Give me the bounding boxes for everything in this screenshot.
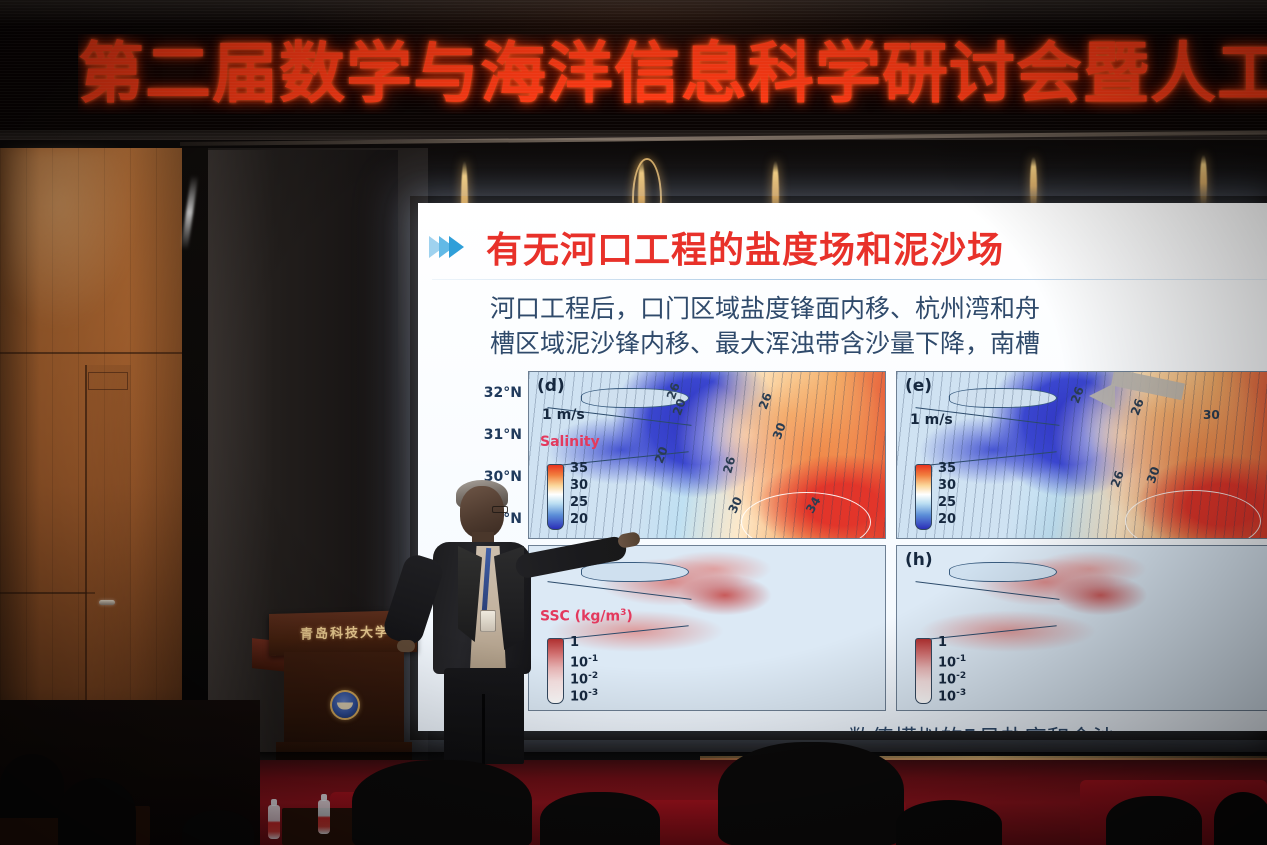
audience-head-5: [540, 792, 660, 845]
presenter-resting-hand: [397, 640, 415, 652]
wall-light-reflection: [6, 150, 136, 330]
panel-h-cbtick-1e-2: 10-2: [938, 668, 966, 685]
door-panel-detail: [88, 372, 128, 390]
panel-h-tag: (h): [905, 550, 933, 570]
panel-e-cbtick-25: 25: [938, 494, 956, 511]
panel-e-cbtick-35: 35: [938, 460, 956, 477]
y-tick-31n-top: 31°N: [484, 427, 528, 443]
panel-h-land-hangzhou-bay: [949, 562, 1057, 582]
led-banner: 第二届数学与海洋信息科学研讨会暨人工智能: [0, 0, 1267, 140]
led-banner-text: 第二届数学与海洋信息科学研讨会暨人工智能: [78, 34, 1267, 114]
panel-e-contour-30a: 30: [1203, 408, 1220, 422]
panel-h-colorbar-gradient: [915, 638, 932, 704]
audience-head-1: [0, 754, 64, 818]
figure-caption: 数值模拟的5月盐度和含沙: [848, 719, 1116, 731]
presenter-pointing-arm: [514, 535, 629, 580]
side-door[interactable]: [85, 365, 131, 715]
led-banner-glare: [0, 0, 1267, 26]
panel-e-tag: (e): [905, 376, 932, 396]
university-crest-icon: [330, 690, 360, 720]
chevron-right-icon: [434, 236, 464, 258]
panel-e-cbtick-20: 20: [938, 511, 956, 528]
panel-h-cbtick-1e-1: 10-1: [938, 651, 966, 668]
title-divider: [432, 279, 1267, 280]
wall-seam-lower: [0, 592, 95, 594]
water-bottle-2[interactable]: [318, 800, 330, 834]
audience-head-4: [352, 760, 532, 845]
audience-head-7: [896, 800, 1002, 845]
y-tick-32n-top: 32°N: [484, 385, 528, 401]
panel-e-colorbar-gradient: [915, 464, 932, 530]
lecture-hall-photo: 第二届数学与海洋信息科学研讨会暨人工智能 有无河口工程的盐度场和泥沙场: [0, 0, 1267, 845]
panel-e-annotation-arrow: [1089, 383, 1115, 409]
presenter-leg-gap: [482, 694, 485, 764]
door-handle[interactable]: [99, 600, 115, 605]
panel-e-colorbar-ticks: 35 30 25 20: [938, 460, 956, 528]
panel-h-colorbar: 1 10-1 10-2 10-3: [915, 638, 932, 704]
slide-title: 有无河口工程的盐度场和泥沙场: [486, 221, 1004, 273]
panel-h: (h) 1 10-1 10-2 10-3 121°E 122°E 123°E 1…: [896, 545, 1267, 711]
panel-e-colorbar: 35 30 25 20: [915, 464, 932, 530]
slide-title-row: 有无河口工程的盐度场和泥沙场: [418, 219, 1267, 275]
slide-body-line-2: 槽区域泥沙锋内移、最大浑浊带含沙量下降，南槽: [490, 326, 1267, 361]
wall-seam-upper: [0, 352, 182, 354]
panel-e: 26 26 30 30 26 (e) 1 m/s 35 30 25 20: [896, 371, 1267, 539]
slide-body-text: 河口工程后，口门区域盐度锋面内移、杭州湾和舟 槽区域泥沙锋内移、最大浑浊带含沙量…: [490, 291, 1267, 361]
water-bottle-1[interactable]: [268, 805, 280, 839]
panel-e-cbtick-30: 30: [938, 477, 956, 494]
audience-head-2: [58, 778, 136, 845]
panel-h-cbtick-1: 1: [938, 634, 966, 651]
audience-head-8: [1106, 796, 1202, 845]
presenter: [400, 480, 615, 765]
panel-d-variable-label: Salinity: [540, 434, 600, 450]
presenter-glasses: [492, 506, 508, 513]
slide-body-line-1: 河口工程后，口门区域盐度锋面内移、杭州湾和舟: [490, 291, 1267, 326]
panel-h-cbtick-1e-3: 10-3: [938, 685, 966, 702]
presenter-name-badge: [480, 610, 496, 632]
audience-head-6: [718, 742, 904, 845]
audience-head-9: [1214, 792, 1267, 845]
panel-h-colorbar-ticks: 1 10-1 10-2 10-3: [938, 634, 966, 702]
panel-d-tag: (d): [537, 376, 565, 396]
panel-d-vector-scale: 1 m/s: [542, 407, 585, 423]
panel-e-vector-scale: 1 m/s: [910, 412, 953, 428]
panel-d-cbtick-35: 35: [570, 460, 588, 477]
